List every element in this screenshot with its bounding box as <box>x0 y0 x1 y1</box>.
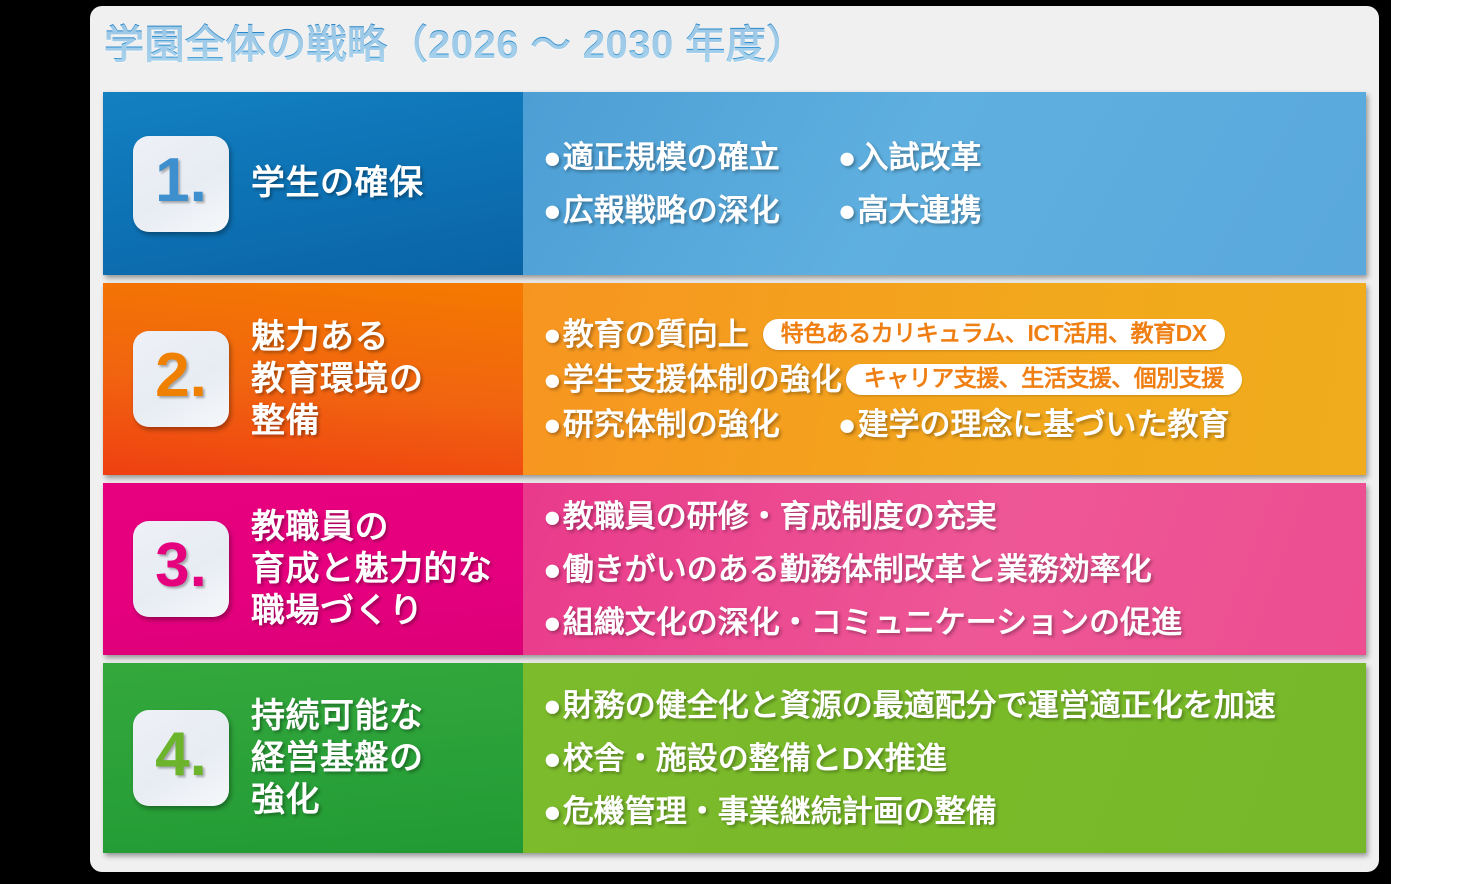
bullet-icon: ● <box>543 743 562 774</box>
row-4-items: ● 財務の健全化と資源の最適配分で運営適正化を加速 ● 校舎・施設の整備とDX推… <box>523 663 1366 853</box>
strategy-row-4[interactable]: 4. 持続可能な 経営基盤の 強化 ● 財務の健全化と資源の最適配分で運営適正化… <box>103 663 1366 853</box>
bullet-icon: ● <box>838 409 857 440</box>
bullet-icon: ● <box>543 501 562 532</box>
bullet-icon: ● <box>543 142 562 173</box>
bullet-icon: ● <box>543 607 562 638</box>
row-3-line-3: ● 組織文化の深化・コミュニケーションの促進 <box>543 607 1366 638</box>
list-item: 高大連携 <box>857 195 981 226</box>
page-title: 学園全体の戦略（2026 〜 2030 年度） <box>90 6 1379 84</box>
slide-canvas: 学園全体の戦略（2026 〜 2030 年度） 1. 学生の確保 ● 適正規模の… <box>0 0 1391 884</box>
row-3-category-title: 教職員の 育成と魅力的な 職場づくり <box>251 506 493 632</box>
list-item: 教職員の研修・育成制度の充実 <box>563 501 997 532</box>
list-item: 適正規模の確立 <box>563 142 780 173</box>
list-item: 危機管理・事業継続計画の整備 <box>563 796 997 827</box>
list-item: 組織文化の深化・コミュニケーションの促進 <box>563 607 1182 638</box>
row-4-category-title: 持続可能な 経営基盤の 強化 <box>251 695 424 821</box>
row-4-category: 4. 持続可能な 経営基盤の 強化 <box>103 663 523 853</box>
strategy-row-3[interactable]: 3. 教職員の 育成と魅力的な 職場づくり ● 教職員の研修・育成制度の充実 ●… <box>103 483 1366 655</box>
row-1-category: 1. 学生の確保 <box>103 92 523 275</box>
list-item: 財務の健全化と資源の最適配分で運営適正化を加速 <box>563 690 1276 721</box>
row-2-items: ● 教育の質向上 特色あるカリキュラム、ICT活用、教育DX ● 学生支援体制の… <box>523 283 1366 475</box>
row-3-items: ● 教職員の研修・育成制度の充実 ● 働きがいのある勤務体制改革と業務効率化 ●… <box>523 483 1366 655</box>
list-item: 働きがいのある勤務体制改革と業務効率化 <box>563 554 1152 585</box>
bullet-icon: ● <box>543 554 562 585</box>
row-3-category: 3. 教職員の 育成と魅力的な 職場づくり <box>103 483 523 655</box>
row-2-line-2-pill: キャリア支援、生活支援、個別支援 <box>846 364 1242 395</box>
bullet-icon: ● <box>543 319 562 350</box>
strategy-card: 学園全体の戦略（2026 〜 2030 年度） 1. 学生の確保 ● 適正規模の… <box>90 6 1379 872</box>
list-item: 広報戦略の深化 <box>563 195 780 226</box>
row-1-category-title: 学生の確保 <box>251 162 424 204</box>
list-item: 学生支援体制の強化 <box>563 364 842 395</box>
bullet-icon: ● <box>543 690 562 721</box>
row-2-line-1-pill: 特色あるカリキュラム、ICT活用、教育DX <box>763 319 1225 350</box>
list-item: 入試改革 <box>857 142 981 173</box>
list-item: 校舎・施設の整備とDX推進 <box>563 743 947 774</box>
bullet-icon: ● <box>838 195 857 226</box>
bullet-icon: ● <box>543 195 562 226</box>
list-item: 教育の質向上 <box>563 319 749 350</box>
row-2-category: 2. 魅力ある 教育環境の 整備 <box>103 283 523 475</box>
row-4-line-2: ● 校舎・施設の整備とDX推進 <box>543 743 1366 774</box>
strategy-row-2[interactable]: 2. 魅力ある 教育環境の 整備 ● 教育の質向上 特色あるカリキュラム、ICT… <box>103 283 1366 475</box>
row-2-line-2: ● 学生支援体制の強化 キャリア支援、生活支援、個別支援 <box>543 364 1366 395</box>
bullet-icon: ● <box>838 142 857 173</box>
row-2-number-badge: 2. <box>133 331 229 427</box>
row-2-line-1: ● 教育の質向上 特色あるカリキュラム、ICT活用、教育DX <box>543 319 1366 350</box>
row-1-number-badge: 1. <box>133 136 229 232</box>
row-1-items: ● 適正規模の確立 ● 入試改革 ● 広報戦略の深化 ● 高大連携 <box>523 92 1366 275</box>
row-2-line-3: ● 研究体制の強化 ● 建学の理念に基づいた教育 <box>543 409 1366 440</box>
row-2-category-title: 魅力ある 教育環境の 整備 <box>251 316 424 442</box>
strategy-row-1[interactable]: 1. 学生の確保 ● 適正規模の確立 ● 入試改革 ● 広報戦略の深化 ● 高大… <box>103 92 1366 275</box>
bullet-icon: ● <box>543 796 562 827</box>
row-3-number-badge: 3. <box>133 521 229 617</box>
row-4-line-1: ● 財務の健全化と資源の最適配分で運営適正化を加速 <box>543 690 1366 721</box>
list-item: 研究体制の強化 <box>563 409 780 440</box>
bullet-icon: ● <box>543 364 562 395</box>
row-3-line-2: ● 働きがいのある勤務体制改革と業務効率化 <box>543 554 1366 585</box>
row-4-number-badge: 4. <box>133 710 229 806</box>
row-3-line-1: ● 教職員の研修・育成制度の充実 <box>543 501 1366 532</box>
list-item: 建学の理念に基づいた教育 <box>857 409 1229 440</box>
row-4-line-3: ● 危機管理・事業継続計画の整備 <box>543 796 1366 827</box>
bullet-icon: ● <box>543 409 562 440</box>
row-1-line-1: ● 適正規模の確立 ● 入試改革 <box>543 142 1366 173</box>
row-1-line-2: ● 広報戦略の深化 ● 高大連携 <box>543 195 1366 226</box>
